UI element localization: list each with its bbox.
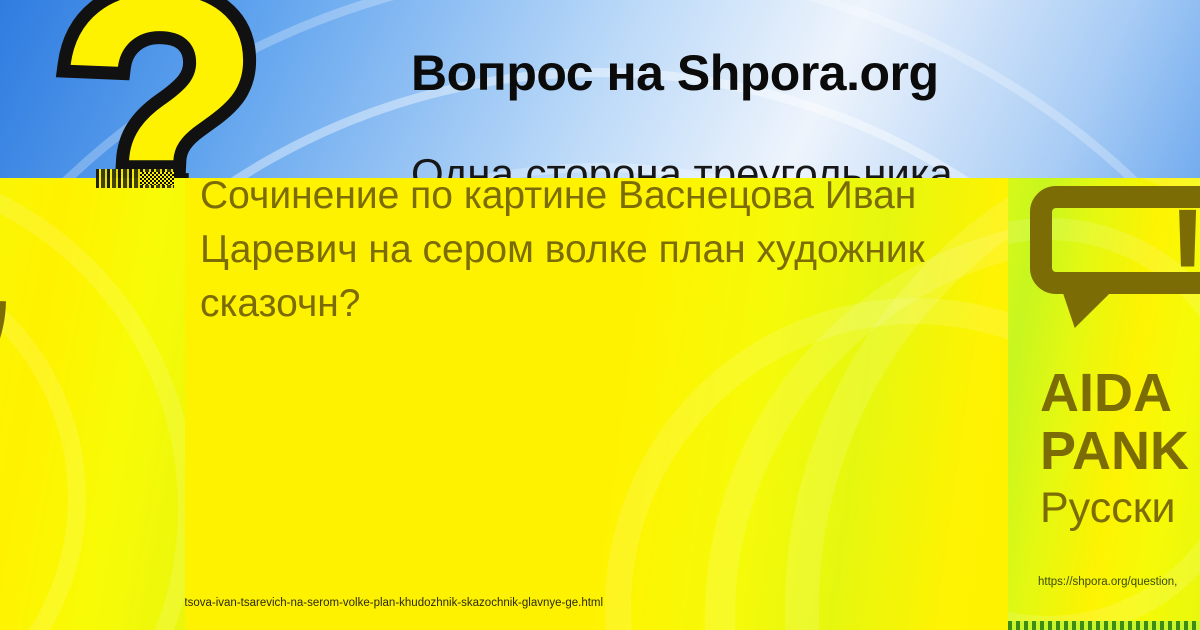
swirl-arc	[0, 238, 86, 630]
right-card-subject: Русски	[1040, 484, 1176, 533]
question-url[interactable]: /7560115-sochinenie-po-kartine-vasnetsov…	[185, 597, 603, 609]
speech-bubble-tail	[1053, 282, 1121, 328]
render-artifact	[140, 172, 174, 185]
card-swirl-decoration	[0, 178, 185, 630]
page-title: Вопрос на Shpora.org	[411, 44, 939, 102]
question-body-text: Сочинение по картине Васнецова Иван Царе…	[200, 178, 940, 331]
speech-bubble-icon	[0, 178, 61, 487]
left-question-card[interactable]: KOVA ий язык	[0, 178, 185, 630]
card-bottom-border	[1008, 621, 1200, 630]
swirl-arc	[605, 298, 1008, 630]
right-question-card[interactable]: ! AIDA PANK Русски https://shpora.org/qu…	[1008, 178, 1200, 630]
exclamation-mark-icon: !	[1168, 192, 1200, 310]
right-card-author-line1: AIDA	[1040, 363, 1172, 423]
right-card-url[interactable]: https://shpora.org/question,	[1038, 576, 1177, 588]
main-question-card[interactable]: Сочинение по картине Васнецова Иван Царе…	[185, 178, 1008, 630]
right-card-author-line2: PANK	[1040, 421, 1189, 481]
swirl-arc	[0, 178, 185, 630]
screenshot-canvas: ? Вопрос на Shpora.org Одна сторона треу…	[0, 0, 1200, 630]
right-card-author: AIDA PANK	[1040, 364, 1189, 480]
